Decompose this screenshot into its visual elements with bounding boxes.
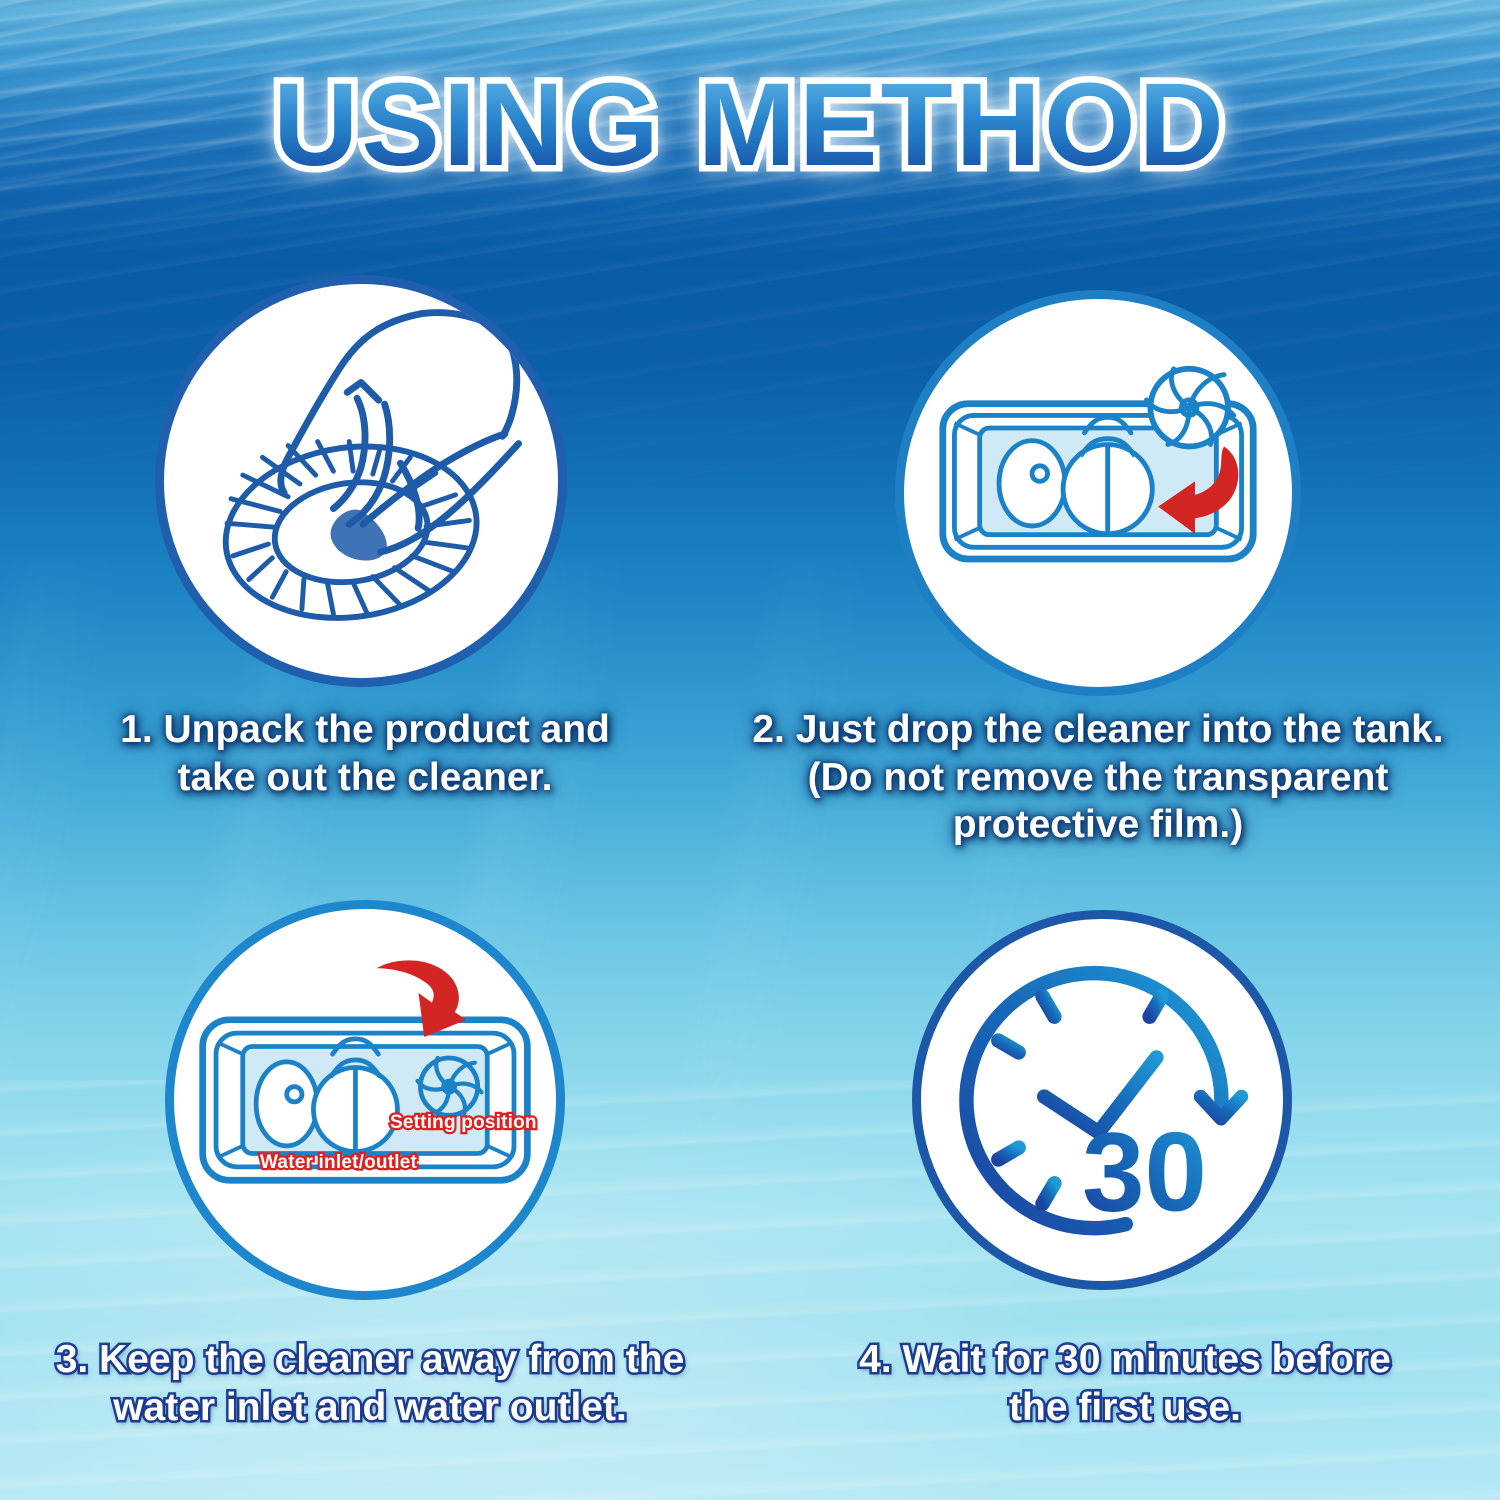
- step-3-caption: 3. Keep the cleaner away from the water …: [40, 1336, 700, 1431]
- clock-30-minutes-icon: 30: [932, 930, 1272, 1270]
- page-title-text: USING METHOD: [273, 59, 1227, 191]
- toilet-tank-drop-cleaner-icon: [904, 299, 1292, 687]
- step-4-icon-bubble: 30: [912, 910, 1292, 1290]
- clock-minutes-value: 30: [1082, 1109, 1207, 1235]
- step-4-caption-line-2: the first use.: [800, 1384, 1450, 1432]
- step-4-caption-line-1: 4. Wait for 30 minutes before: [800, 1336, 1450, 1384]
- step-1-caption-line-1: 1. Unpack the product and: [70, 706, 660, 754]
- step-1-caption: 1. Unpack the product and take out the c…: [70, 706, 660, 801]
- step-1-icon-bubble: [155, 275, 567, 687]
- step-3-icon-bubble: Setting position Water inlet/outlet: [165, 900, 565, 1300]
- step-4-caption: 4. Wait for 30 minutes before the first …: [800, 1336, 1450, 1431]
- step-1-caption-line-2: take out the cleaner.: [70, 754, 660, 802]
- setting-position-label: Setting position: [390, 1112, 537, 1134]
- hand-holding-cleaner-disc-icon: [164, 284, 558, 678]
- steps-grid: 1. Unpack the product and take out the c…: [0, 0, 1500, 1500]
- cleaner-disc-pinwheel-icon: [1147, 369, 1234, 447]
- step-2-caption: 2. Just drop the cleaner into the tank. …: [748, 706, 1448, 849]
- step-2-caption-line-3: protective film.): [748, 801, 1448, 849]
- page-title: USING METHOD USING METHOD: [0, 64, 1500, 188]
- toilet-tank-setting-position-icon: [174, 909, 556, 1291]
- setting-position-arrow-icon: [376, 960, 466, 1037]
- step-2-icon-bubble: [895, 290, 1301, 696]
- step-3-caption-line-1: 3. Keep the cleaner away from the: [40, 1336, 700, 1384]
- infographic-canvas: USING METHOD USING METHOD: [0, 0, 1500, 1500]
- step-2-caption-line-2: (Do not remove the transparent: [748, 754, 1448, 802]
- step-2-caption-line-1: 2. Just drop the cleaner into the tank.: [748, 706, 1448, 754]
- water-inlet-outlet-label: Water inlet/outlet: [260, 1152, 417, 1174]
- step-3-caption-line-2: water inlet and water outlet.: [40, 1384, 700, 1432]
